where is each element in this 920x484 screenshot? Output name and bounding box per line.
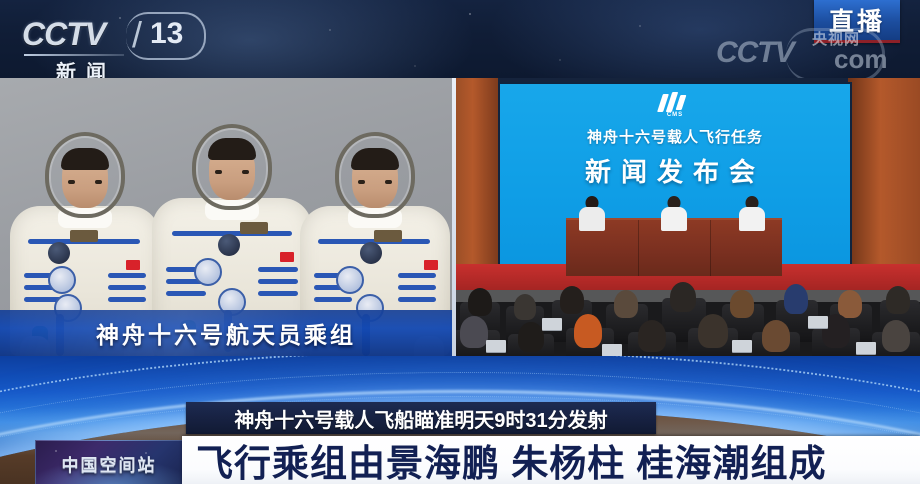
screen-mission-title: 神舟十六号载人飞行任务 <box>500 126 850 147</box>
headline-primary-text: 飞行乘组由景海鹏 朱杨柱 桂海潮组成 <box>182 433 827 484</box>
press-conference-panel: CMS 神舟十六号载人飞行任务 新闻发布会 <box>456 78 920 356</box>
cctv-com-watermark: CCTV 央视网 com <box>716 30 906 76</box>
screen-event-title: 新闻发布会 <box>500 152 850 189</box>
broadcast-screen: CCTV / 13 新闻 直播 CCTV 央视网 com <box>0 0 920 484</box>
astronaut-crew-photo-panel: 神舟十六号航天员乘组 <box>0 78 452 356</box>
panelist-figure <box>660 196 688 230</box>
wood-wall-left <box>456 78 498 278</box>
dual-video-panels: 神舟十六号航天员乘组 CMS 神舟十六号载人飞行任务 新闻发布会 <box>0 78 920 356</box>
watermark-com-text: com <box>834 44 887 75</box>
panelist-figure <box>578 196 606 230</box>
cctv-channel-number: 13 <box>150 17 183 51</box>
cms-logo-text: CMS <box>655 112 695 118</box>
cms-logo-icon: CMS <box>655 92 695 122</box>
cctv-wordmark: CCTV <box>22 16 105 53</box>
wood-wall-right <box>848 78 920 288</box>
program-badge: 中国空间站 <box>35 440 183 484</box>
top-starfield-bar: CCTV / 13 新闻 直播 CCTV 央视网 com <box>0 0 920 78</box>
left-panel-caption: 神舟十六号航天员乘组 <box>0 310 452 356</box>
headline-secondary-banner: 神舟十六号载人飞船瞄准明天9时31分发射 <box>186 402 656 434</box>
cctv-slash-icon: / <box>132 14 142 56</box>
watermark-cctv-text: CCTV <box>716 36 794 70</box>
headline-secondary-text: 神舟十六号载人飞船瞄准明天9时31分发射 <box>234 404 607 433</box>
panelist-figure <box>738 196 766 230</box>
program-badge-text: 中国空间站 <box>62 451 157 476</box>
left-panel-caption-text: 神舟十六号航天员乘组 <box>96 316 356 350</box>
cctv13-logo: CCTV / 13 新闻 <box>22 16 202 72</box>
headline-primary-banner: 飞行乘组由景海鹏 朱杨柱 桂海潮组成 <box>182 436 920 484</box>
